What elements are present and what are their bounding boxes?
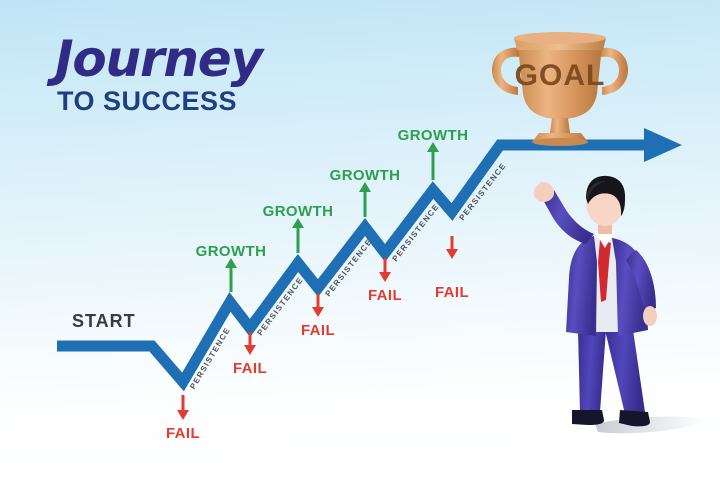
fail-arrow-head-icon — [379, 272, 391, 282]
infographic-canvas: Journey TO SUCCESS — [0, 0, 720, 478]
figure-jacket-left — [566, 236, 597, 336]
fail-arrow-head-icon — [312, 307, 324, 317]
trophy-icon: GOAL — [492, 32, 628, 146]
journey-illustration: GOAL — [0, 0, 720, 478]
fail-label-4: FAIL — [368, 287, 402, 304]
fail-arrow-head-icon — [177, 410, 189, 420]
growth-label-2: GROWTH — [263, 203, 334, 220]
figure-fist — [534, 182, 554, 202]
trophy-goal-label: GOAL — [515, 59, 606, 92]
fail-label-2: FAIL — [233, 360, 267, 377]
figure-shoe-right — [619, 410, 650, 426]
fail-label-1: FAIL — [166, 425, 200, 442]
fail-label-5: FAIL — [435, 284, 469, 301]
journey-arrow-head-icon — [644, 128, 682, 162]
figure-leg-left — [578, 330, 606, 412]
figure-shoe-left — [572, 410, 604, 425]
fail-arrow-head-icon — [446, 249, 458, 259]
growth-label-4: GROWTH — [398, 127, 469, 144]
figure-leg-right — [605, 330, 645, 414]
growth-label-3: GROWTH — [330, 167, 401, 184]
growth-label-1: GROWTH — [196, 243, 267, 260]
start-label: START — [72, 311, 136, 332]
fail-label-3: FAIL — [301, 322, 335, 339]
celebrating-businessman-figure — [534, 176, 706, 433]
fail-arrow-head-icon — [244, 345, 256, 355]
figure-shadow — [595, 417, 706, 434]
